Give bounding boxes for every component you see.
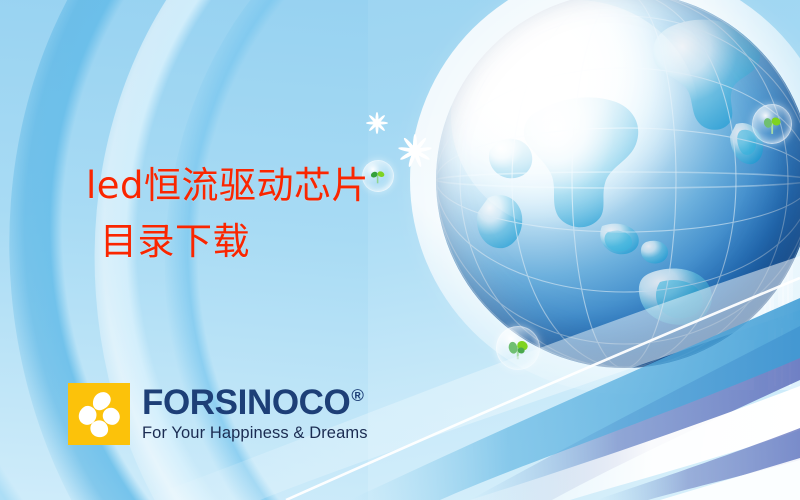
brand-name: FORSINOCO (142, 386, 350, 420)
flower-petals-icon (68, 383, 130, 445)
diagonal-light-ribbons (0, 220, 800, 500)
sprout-icon (760, 112, 784, 136)
forsinoco-flower-mark (68, 383, 130, 445)
starburst-flower-large (398, 134, 432, 173)
brand-tagline: For Your Happiness & Dreams (142, 424, 368, 442)
bubble-sprout-left (362, 160, 394, 192)
brand-name-row: FORSINOCO ® (142, 386, 368, 420)
registered-trademark-symbol: ® (351, 387, 363, 404)
promo-banner: led恒流驱动芯片 目录下载 FORSINOCO ® (0, 0, 800, 500)
starburst-flower-small (366, 112, 388, 139)
sprout-icon (368, 166, 387, 185)
bubble-sprout-right (752, 104, 792, 144)
logo-text-block: FORSINOCO ® For Your Happiness & Dreams (142, 386, 368, 441)
brand-logo[interactable]: FORSINOCO ® For Your Happiness & Dreams (68, 383, 368, 445)
